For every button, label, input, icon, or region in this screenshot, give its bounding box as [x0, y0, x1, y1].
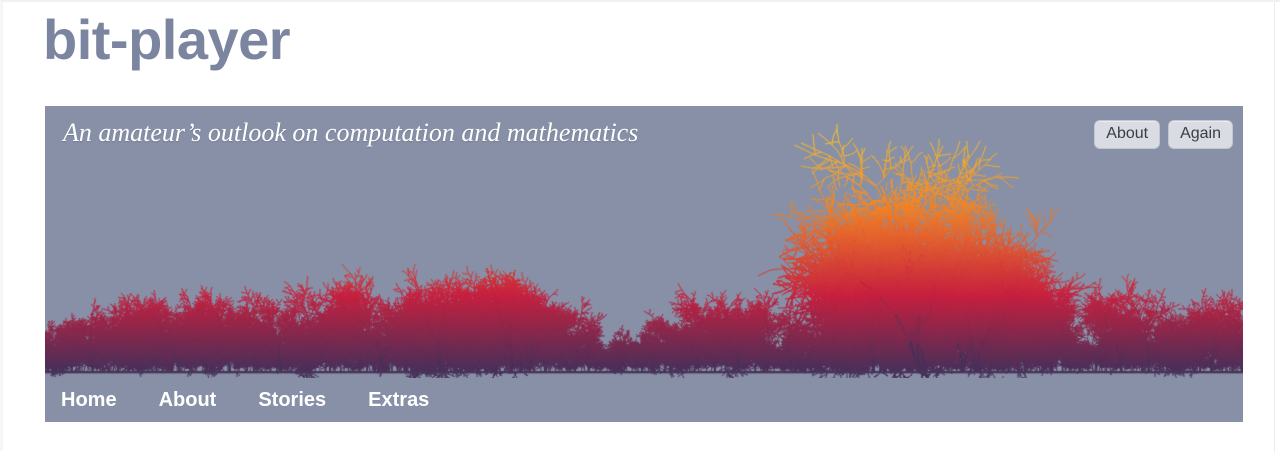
again-button[interactable]: Again — [1168, 120, 1233, 149]
site-tagline: An amateur’s outlook on computation and … — [63, 118, 638, 148]
nav-item-stories[interactable]: Stories — [258, 389, 326, 412]
nav-item-home[interactable]: Home — [61, 389, 117, 412]
banner: An amateur’s outlook on computation and … — [45, 106, 1243, 378]
main-navigation: Home About Stories Extras — [45, 378, 1243, 422]
nav-item-about[interactable]: About — [159, 389, 217, 412]
page-frame: bit-player An amateur’s outlook on compu… — [0, 0, 1280, 451]
about-button[interactable]: About — [1094, 120, 1160, 149]
banner-button-group: About Again — [1094, 120, 1233, 149]
nav-item-extras[interactable]: Extras — [368, 389, 429, 412]
site-title: bit-player — [43, 12, 290, 68]
content-column: bit-player An amateur’s outlook on compu… — [3, 2, 1275, 453]
